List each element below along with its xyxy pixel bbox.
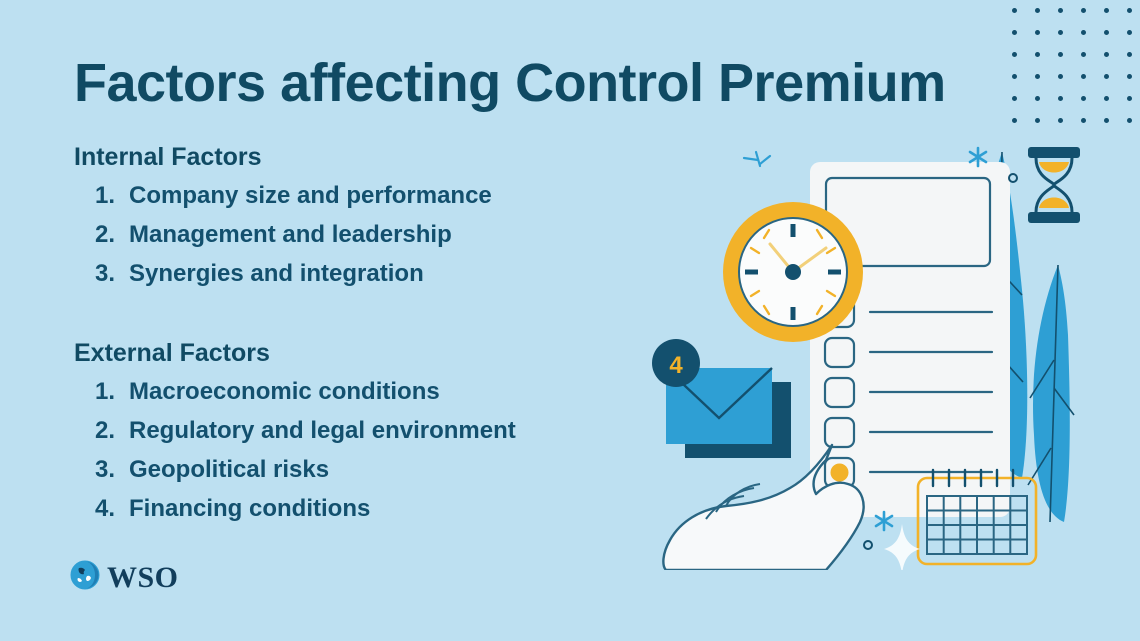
grid-dot: [1035, 52, 1040, 57]
grid-dot: [1035, 96, 1040, 101]
grid-dot: [1012, 74, 1017, 79]
grid-dot: [1035, 8, 1040, 13]
grid-dot: [1012, 52, 1017, 57]
wso-logo[interactable]: WSO: [70, 560, 179, 595]
small-circle-icon: [864, 541, 872, 549]
clipboard-checklist: [810, 162, 1010, 517]
clock-icon: [723, 202, 863, 342]
wso-wordmark: WSO: [107, 563, 179, 593]
grid-dot: [1081, 30, 1086, 35]
grid-dot: [1127, 74, 1132, 79]
grid-dot: [1127, 8, 1132, 13]
slide-canvas: Factors affecting Control Premium Intern…: [0, 0, 1140, 641]
small-circle-icon: [1009, 174, 1017, 182]
grid-dot: [1081, 96, 1086, 101]
page-title: Factors affecting Control Premium: [74, 52, 946, 114]
internal-factors-list: 1. Company size and performance 2. Manag…: [95, 182, 492, 299]
list-item-number: 2.: [95, 417, 129, 445]
globe-icon: [70, 560, 100, 595]
grid-dot: [1104, 30, 1109, 35]
grid-dot: [1058, 74, 1063, 79]
list-item-label: Geopolitical risks: [129, 456, 329, 484]
envelope-badge-count: 4: [669, 352, 683, 379]
list-item-label: Financing conditions: [129, 495, 370, 523]
grid-dot: [1035, 74, 1040, 79]
list-item: 2. Management and leadership: [95, 221, 492, 260]
grid-dot: [1127, 52, 1132, 57]
hourglass-icon: [1028, 147, 1080, 223]
grid-dot: [1104, 8, 1109, 13]
grid-dot: [1058, 52, 1063, 57]
checkbox-filled-dot: [831, 464, 849, 482]
grid-dot: [1035, 118, 1040, 123]
grid-dot: [1058, 30, 1063, 35]
section-heading-external: External Factors: [74, 339, 270, 368]
grid-dot: [1081, 8, 1086, 13]
list-item-label: Synergies and integration: [129, 260, 424, 288]
envelope-icon: 4: [652, 339, 791, 458]
list-item-label: Macroeconomic conditions: [129, 378, 440, 406]
list-item: 2. Regulatory and legal environment: [95, 417, 516, 456]
grid-dot: [1081, 74, 1086, 79]
list-item-number: 3.: [95, 456, 129, 484]
grid-dot: [1081, 52, 1086, 57]
list-item-label: Regulatory and legal environment: [129, 417, 516, 445]
grid-dot: [1058, 8, 1063, 13]
asterisk-icon: [744, 152, 770, 166]
list-item: 3. Synergies and integration: [95, 260, 492, 299]
list-item-number: 4.: [95, 495, 129, 523]
grid-dot: [1058, 118, 1063, 123]
section-heading-internal: Internal Factors: [74, 143, 262, 172]
illustration-group: 4: [630, 130, 1140, 570]
grid-dot: [1012, 30, 1017, 35]
grid-dot: [1104, 52, 1109, 57]
grid-dot: [1012, 96, 1017, 101]
list-item: 4. Financing conditions: [95, 495, 516, 534]
list-item: 1. Macroeconomic conditions: [95, 378, 516, 417]
grid-dot: [1127, 96, 1132, 101]
dot-grid-decoration: [1012, 8, 1140, 133]
grid-dot: [1127, 118, 1132, 123]
grid-dot: [1127, 30, 1132, 35]
star-sparkle-icon: [884, 524, 920, 570]
list-item: 1. Company size and performance: [95, 182, 492, 221]
external-factors-list: 1. Macroeconomic conditions 2. Regulator…: [95, 378, 516, 534]
grid-dot: [1035, 30, 1040, 35]
grid-dot: [1058, 96, 1063, 101]
list-item: 3. Geopolitical risks: [95, 456, 516, 495]
grid-dot: [1104, 74, 1109, 79]
grid-dot: [1012, 118, 1017, 123]
grid-dot: [1012, 8, 1017, 13]
list-item-number: 1.: [95, 182, 129, 210]
list-item-number: 1.: [95, 378, 129, 406]
grid-dot: [1104, 118, 1109, 123]
list-item-number: 2.: [95, 221, 129, 249]
grid-dot: [1104, 96, 1109, 101]
list-item-label: Company size and performance: [129, 182, 492, 210]
grid-dot: [1081, 118, 1086, 123]
list-item-label: Management and leadership: [129, 221, 452, 249]
list-item-number: 3.: [95, 260, 129, 288]
